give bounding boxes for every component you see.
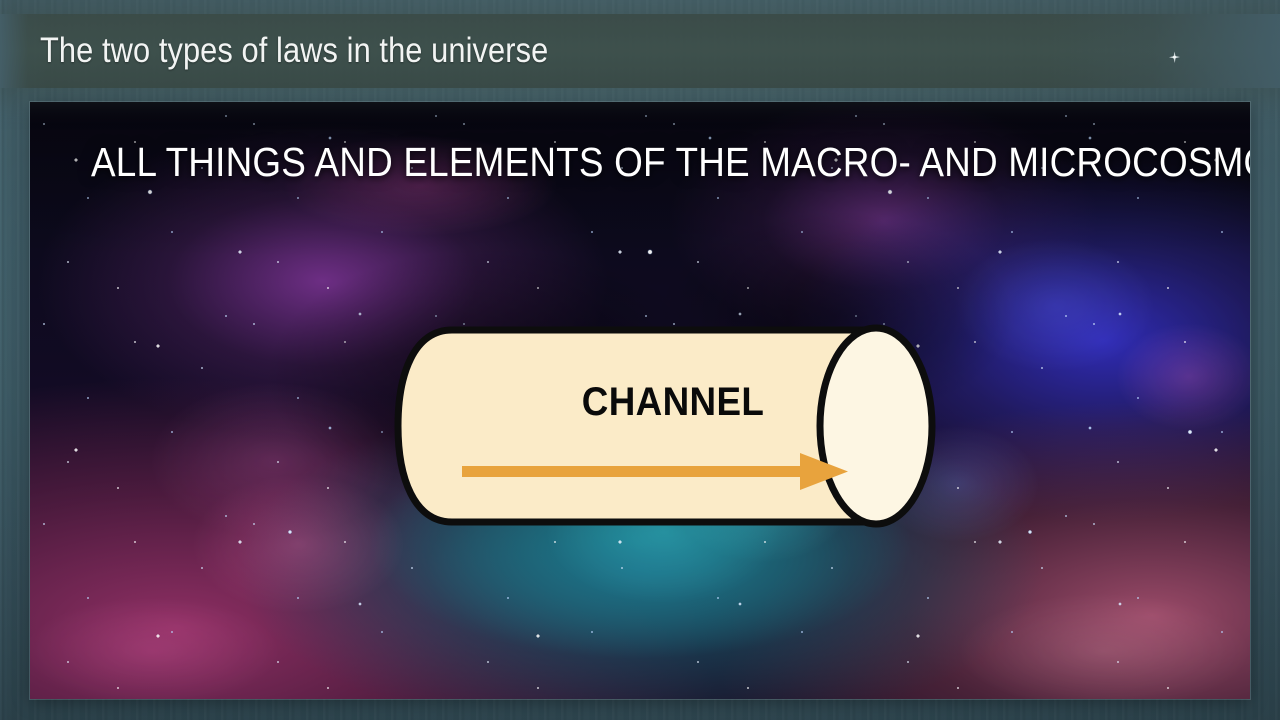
channel-cylinder-diagram: CHANNEL [392, 326, 954, 526]
presentation-title: The two types of laws in the universe [40, 31, 548, 71]
cylinder-shape [392, 326, 954, 526]
slide-heading-text: ALL THINGS AND ELEMENTS OF THE MACRO- AN… [91, 142, 1189, 183]
cylinder-end-cap [820, 328, 932, 524]
presentation-window: The two types of laws in the universe AL… [0, 0, 1280, 720]
cylinder-body [398, 330, 876, 522]
title-bar-right-fade [1050, 14, 1280, 88]
slide-content-image: ALL THINGS AND ELEMENTS OF THE MACRO- AN… [30, 102, 1250, 699]
slide-title-bar: The two types of laws in the universe [0, 14, 1280, 88]
